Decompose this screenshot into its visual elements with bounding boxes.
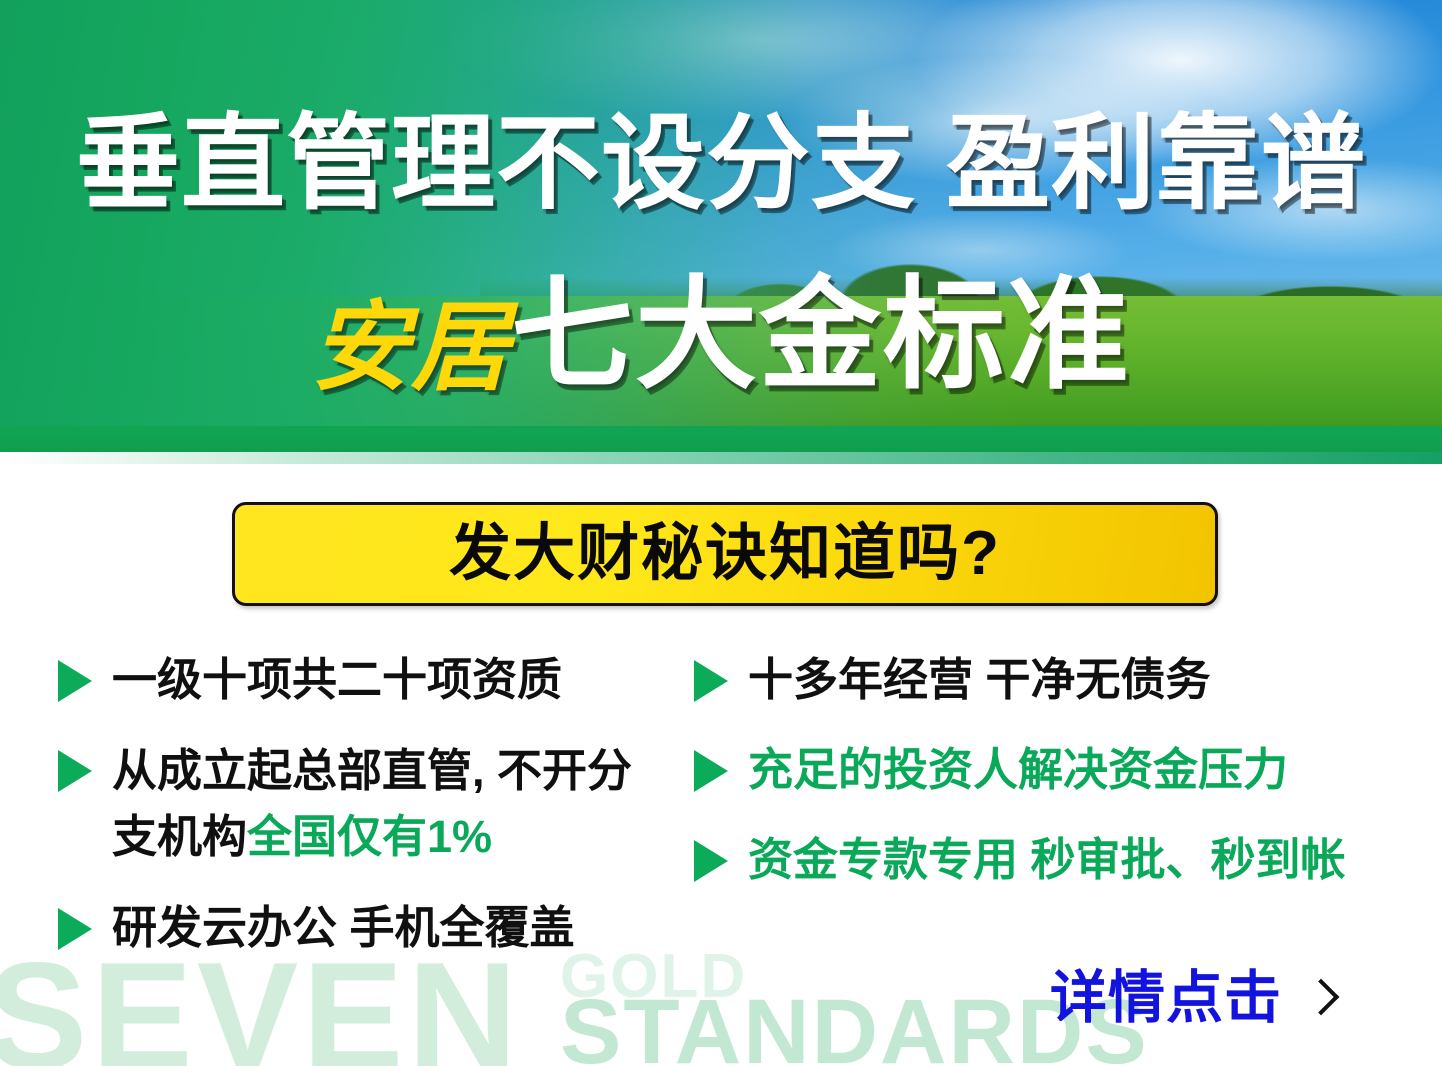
feature-item-label: 资金专款专用 秒审批、秒到帐	[748, 828, 1346, 892]
details-cta-label: 详情点击	[1050, 968, 1282, 1028]
hero-headline-brand: 安居	[311, 292, 511, 402]
feature-item: 一级十项共二十项资质	[58, 648, 698, 712]
triangle-bullet-icon	[694, 840, 728, 882]
feature-item-label: 充足的投资人解决资金压力	[748, 738, 1288, 802]
feature-item-label: 十多年经营 干净无债务	[748, 648, 1211, 712]
details-cta-button[interactable]: 详情点击	[1050, 968, 1332, 1028]
highlight-banner-label: 发大财秘诀知道吗?	[449, 523, 1001, 585]
feature-item: 十多年经营 干净无债务	[694, 648, 1434, 712]
promo-banner-page: 垂直管理不设分支 盈利靠谱 安居七大金标准 发大财秘诀知道吗? SEVEN GO…	[0, 0, 1442, 1066]
triangle-bullet-icon	[694, 750, 728, 792]
hero-headline-slogan: 七大金标准	[511, 267, 1131, 403]
chevron-right-icon	[1306, 976, 1332, 1020]
feature-item-label: 从成立起总部直管, 不开分支机构全国仅有1%	[112, 738, 672, 870]
feature-item-label: 研发云办公 手机全覆盖	[112, 896, 575, 960]
triangle-bullet-icon	[694, 660, 728, 702]
feature-list: 一级十项共二十项资质 从成立起总部直管, 不开分支机构全国仅有1% 研发云办公 …	[0, 648, 1442, 988]
hero-section: 垂直管理不设分支 盈利靠谱 安居七大金标准	[0, 0, 1442, 452]
feature-column-left: 一级十项共二十项资质 从成立起总部直管, 不开分支机构全国仅有1% 研发云办公 …	[58, 648, 698, 986]
highlight-banner[interactable]: 发大财秘诀知道吗?	[232, 502, 1218, 606]
hero-headline-primary: 垂直管理不设分支 盈利靠谱	[0, 112, 1442, 216]
feature-item-label: 一级十项共二十项资质	[112, 648, 562, 712]
hero-headline-secondary: 安居七大金标准	[0, 275, 1442, 433]
feature-column-right: 十多年经营 干净无债务 充足的投资人解决资金压力 资金专款专用 秒审批、秒到帐	[694, 648, 1434, 918]
hero-divider-sweep	[0, 452, 1442, 464]
triangle-bullet-icon	[58, 660, 92, 702]
feature-item: 从成立起总部直管, 不开分支机构全国仅有1%	[58, 738, 698, 870]
feature-item: 资金专款专用 秒审批、秒到帐	[694, 828, 1434, 892]
feature-item: 研发云办公 手机全覆盖	[58, 896, 698, 960]
feature-item-label-highlight: 全国仅有1%	[247, 811, 492, 862]
triangle-bullet-icon	[58, 750, 92, 792]
triangle-bullet-icon	[58, 908, 92, 950]
feature-item: 充足的投资人解决资金压力	[694, 738, 1434, 802]
